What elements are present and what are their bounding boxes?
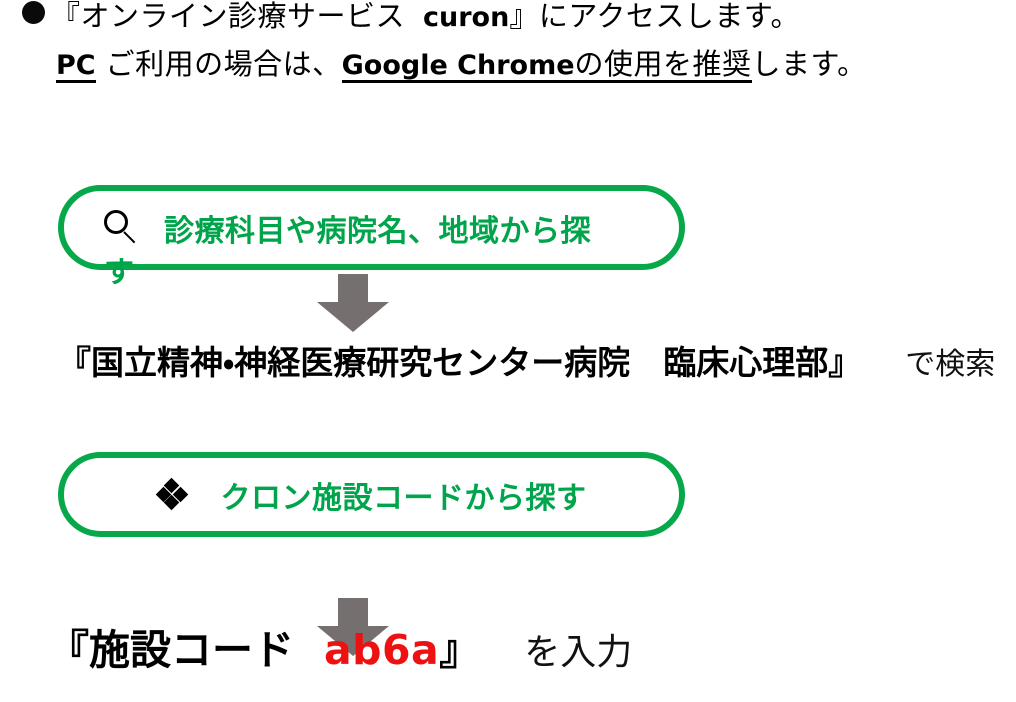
search-by-department-label: 診療科目や病院名、地域から探	[164, 206, 591, 250]
facility-code-action-label: を入力	[524, 623, 632, 675]
bullet-dot-icon	[22, 1, 45, 24]
search-by-department-label-overflow: す	[104, 258, 150, 284]
facility-code-prefix: 『施設コード	[48, 616, 294, 676]
facility-code-suffix: 』	[439, 616, 480, 676]
search-action-label: で検索	[905, 339, 995, 383]
down-arrow-icon-1	[317, 274, 389, 332]
intro-line1-segment-a: 『オンライン診療サービス	[51, 2, 405, 31]
search-by-department-button[interactable]: 診療科目や病院名、地域から探	[58, 185, 685, 270]
diamond-bullet-icon	[157, 480, 187, 510]
search-by-facility-code-label: クロン施設コードから探す	[221, 473, 587, 517]
intro-line2-segment-c: します。	[752, 50, 867, 79]
facility-code-caption: 『施設コード ab6a 』 を入力	[48, 616, 1008, 676]
pc-label: PC	[56, 52, 96, 83]
intro-text-block: 『オンライン診療サービス curon 』にアクセスします。 PC ご利用の場合は…	[22, 2, 1002, 96]
search-keyword-caption: 『国立精神・神経医療研究センター病院 臨床心理部』 で検索	[58, 336, 1016, 384]
search-by-facility-code-button[interactable]: クロン施設コードから探す	[58, 452, 685, 537]
intro-line-access: 『オンライン診療サービス curon 』にアクセスします。	[22, 2, 1002, 46]
browser-name-google-chrome: Google Chrome	[342, 52, 575, 83]
brand-name-curon: curon	[423, 4, 509, 31]
hospital-search-keyword: 『国立精神・神経医療研究センター病院 臨床心理部』	[58, 336, 861, 384]
intro-line2-segment-a: ご利用の場合は、	[106, 50, 342, 79]
intro-line-browser: PC ご利用の場合は、 Google Chrome の使用を推奨 します。	[22, 50, 1002, 96]
facility-code-value: ab6a	[324, 626, 439, 674]
search-icon	[104, 210, 138, 246]
intro-line1-segment-b: 』にアクセスします。	[509, 2, 800, 31]
intro-line2-segment-b: の使用を推奨	[575, 50, 752, 83]
